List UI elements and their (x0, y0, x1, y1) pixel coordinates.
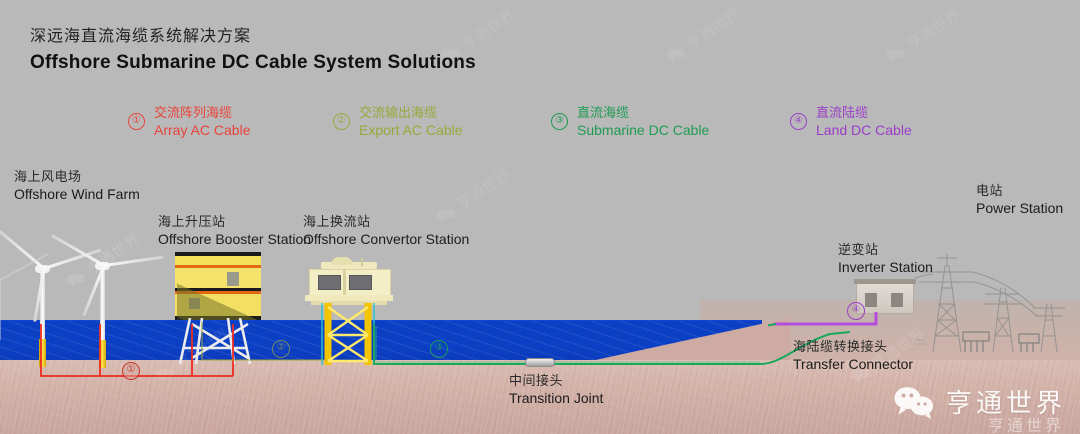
legend-label-cn: 直流陆缆 (816, 104, 912, 121)
legend-label-cn: 交流阵列海缆 (154, 104, 250, 121)
legend-number: ② (333, 113, 350, 130)
legend-number: ① (128, 113, 145, 130)
label-inverter-station: 逆变站 Inverter Station (838, 241, 933, 277)
legend-label-en: Array AC Cable (154, 121, 250, 140)
label-power-station: 电站 Power Station (976, 182, 1063, 218)
cable-marker-export-ac: ② (272, 340, 290, 358)
label-offshore-wind-farm: 海上风电场 Offshore Wind Farm (14, 168, 140, 204)
label-offshore-booster-station: 海上升压站 Offshore Booster Station (158, 213, 311, 249)
cable-marker-submarine-dc: ③ (430, 340, 448, 358)
label-cn: 海陆缆转换接头 (793, 338, 913, 355)
brand-name-shadow: 亨通世界 (988, 412, 1064, 434)
power-station-linework (915, 248, 1080, 360)
label-en: Inverter Station (838, 258, 933, 277)
legend-label-cn: 交流输出海缆 (359, 104, 463, 121)
label-transfer-connector: 海陆缆转换接头 Transfer Connector (793, 338, 913, 374)
legend-item-export-ac[interactable]: ② 交流输出海缆 Export AC Cable (333, 104, 463, 140)
cable-marker-array-ac: ① (122, 362, 140, 380)
brand-badge: 亨通世界 亨通世界 (892, 383, 1066, 420)
land-dc-cable (768, 300, 908, 340)
label-offshore-convertor-station: 海上换流站 Offshore Convertor Station (303, 213, 469, 249)
label-en: Offshore Wind Farm (14, 185, 140, 204)
label-cn: 海上升压站 (158, 213, 311, 230)
legend-number: ③ (551, 113, 568, 130)
legend-label-en: Submarine DC Cable (577, 121, 709, 140)
page-title-cn: 深远海直流海缆系统解决方案 (30, 22, 251, 46)
legend-label-en: Export AC Cable (359, 121, 463, 140)
transition-joint-marker (525, 358, 555, 367)
infographic-canvas: 亨通世界 亨通世界 亨通世界 亨通世界 亨通世界 亨通世界 (0, 0, 1080, 434)
legend-item-submarine-dc[interactable]: ③ 直流海缆 Submarine DC Cable (551, 104, 709, 140)
label-transition-joint: 中间接头 Transition Joint (509, 372, 603, 408)
label-cn: 中间接头 (509, 372, 603, 389)
offshore-booster-station (175, 252, 261, 324)
building-roof (854, 279, 916, 284)
label-cn: 海上换流站 (303, 213, 469, 230)
label-en: Power Station (976, 199, 1063, 218)
page-title-en: Offshore Submarine DC Cable System Solut… (30, 52, 476, 74)
label-en: Offshore Convertor Station (303, 230, 469, 249)
label-en: Transition Joint (509, 389, 603, 408)
label-cn: 海上风电场 (14, 168, 140, 185)
wechat-icon (892, 385, 936, 419)
legend-number: ④ (790, 113, 807, 130)
legend-item-array-ac[interactable]: ① 交流阵列海缆 Array AC Cable (128, 104, 250, 140)
cable-marker-land-dc: ④ (847, 302, 865, 320)
legend-label-en: Land DC Cable (816, 121, 912, 140)
label-cn: 电站 (976, 182, 1063, 199)
label-en: Offshore Booster Station (158, 230, 311, 249)
legend-label-cn: 直流海缆 (577, 104, 709, 121)
label-cn: 逆变站 (838, 241, 933, 258)
label-en: Transfer Connector (793, 355, 913, 374)
legend-item-land-dc[interactable]: ④ 直流陆缆 Land DC Cable (790, 104, 912, 140)
